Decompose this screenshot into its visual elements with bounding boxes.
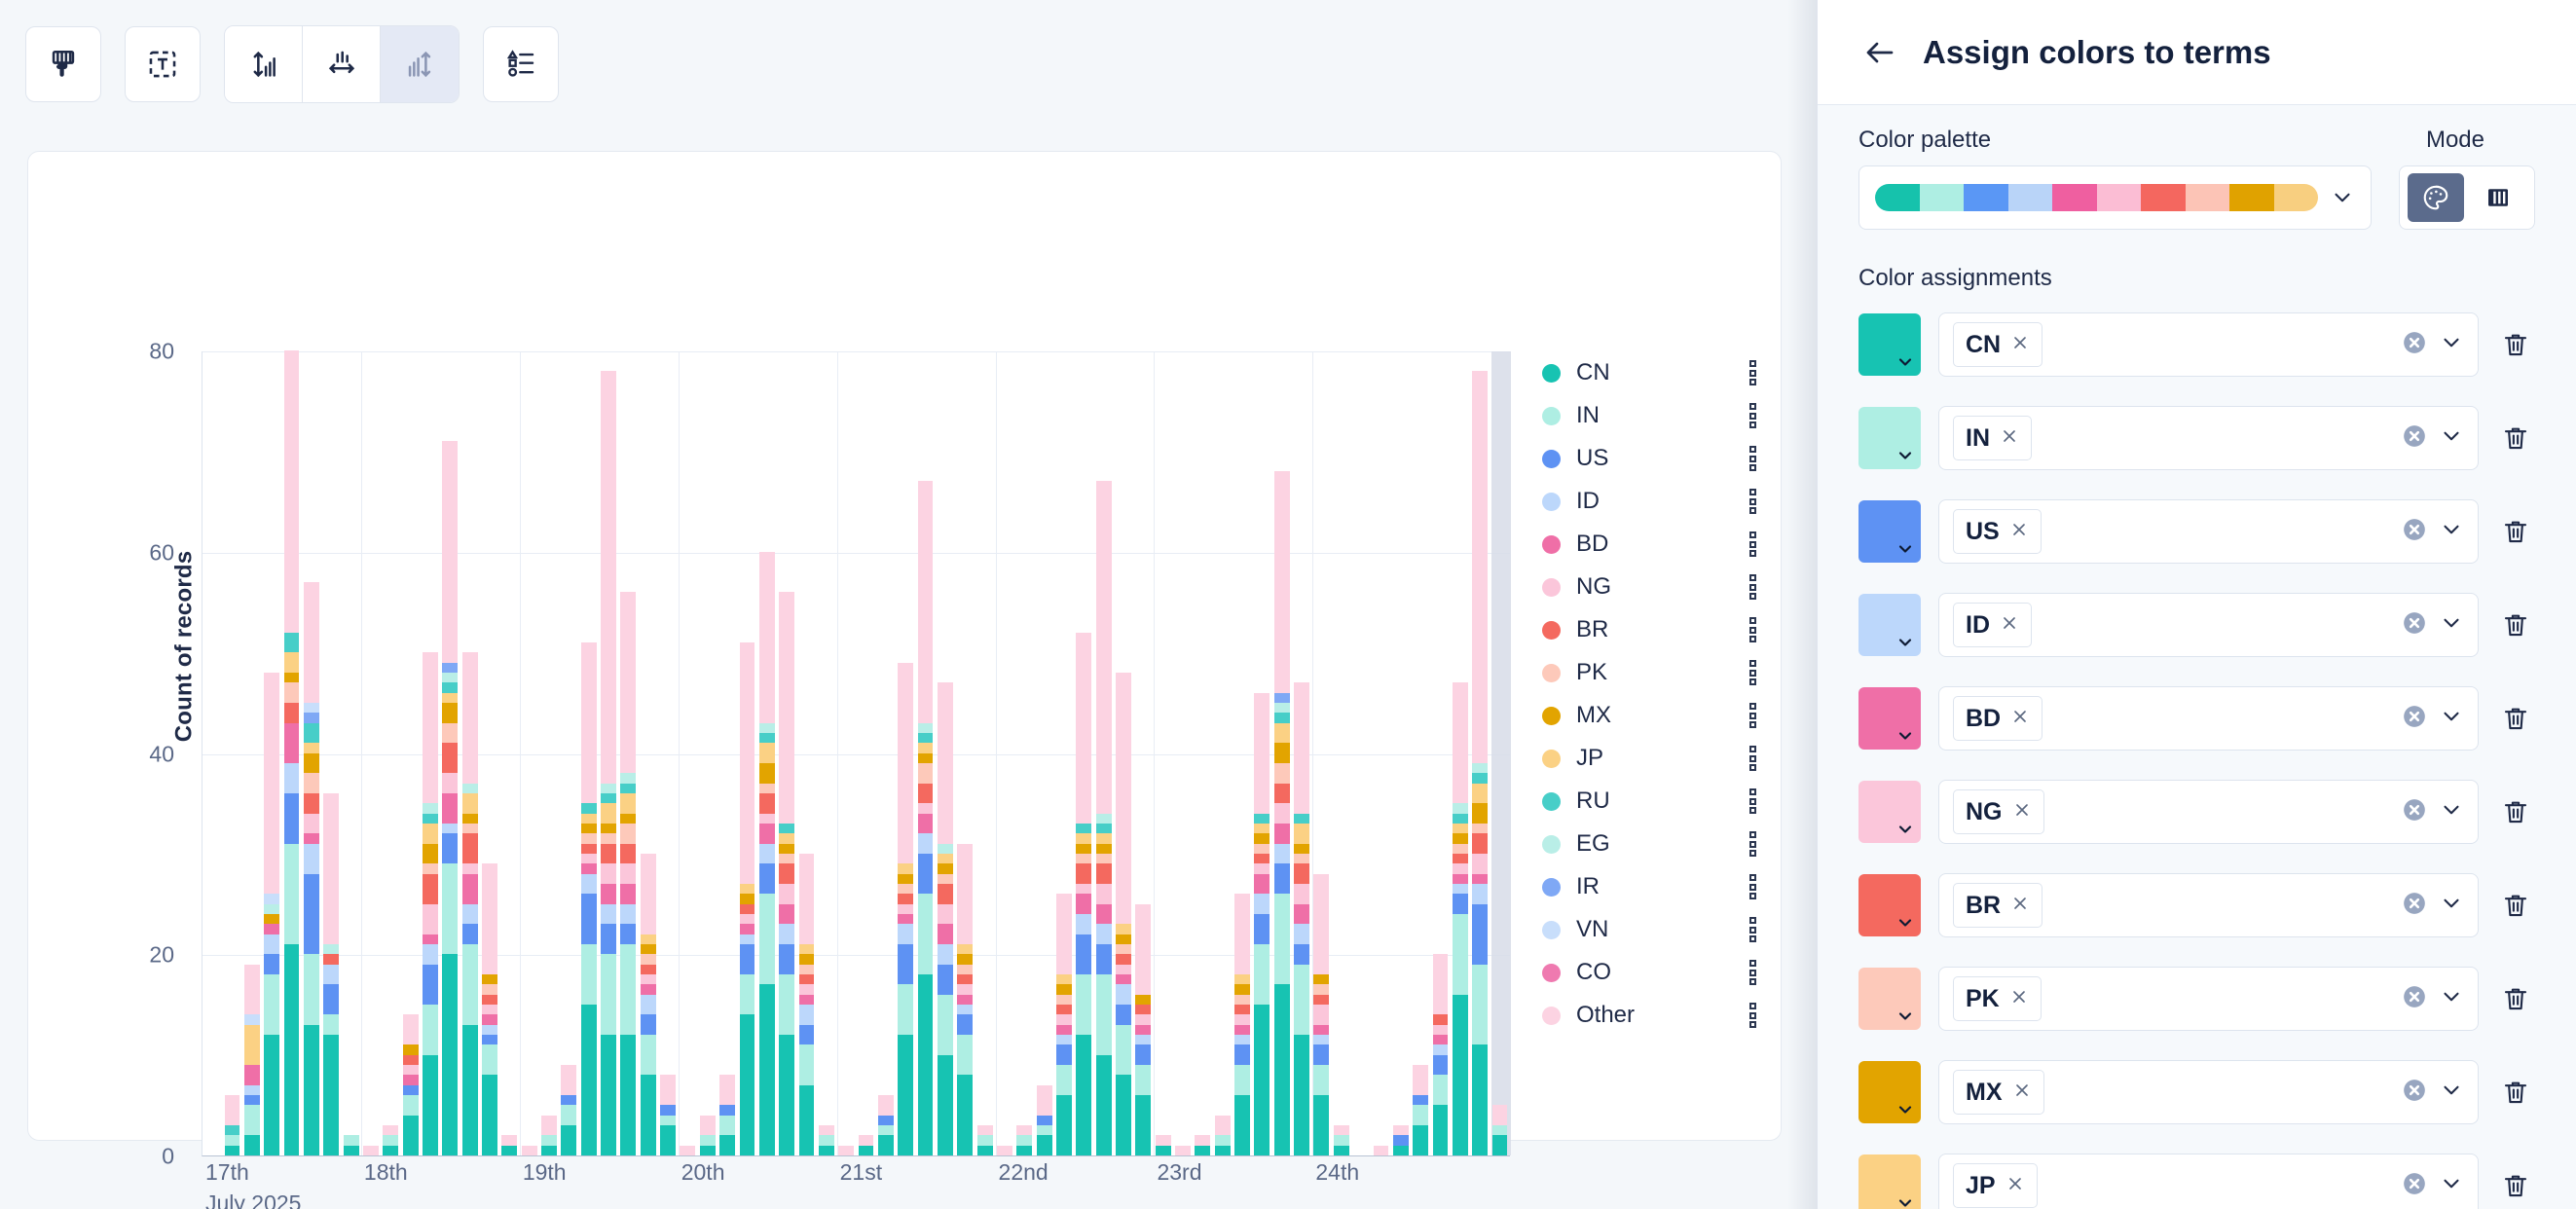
bar-slot[interactable]: [1332, 351, 1351, 1155]
bar-segment[interactable]: [601, 1035, 616, 1155]
bar-segment[interactable]: [601, 954, 616, 1035]
bar-segment[interactable]: [799, 1085, 815, 1155]
bar-segment[interactable]: [938, 965, 953, 995]
bar-segment[interactable]: [1433, 1075, 1449, 1105]
assignment-color-swatch[interactable]: [1858, 687, 1921, 750]
bar-segment[interactable]: [819, 1135, 834, 1145]
bar-segment[interactable]: [1472, 824, 1488, 833]
bar-slot[interactable]: [499, 351, 519, 1155]
legend-item[interactable]: JP: [1542, 737, 1761, 780]
bar-segment[interactable]: [779, 924, 794, 944]
assignment-terms-combobox[interactable]: JP: [1938, 1154, 2479, 1209]
bar-segment[interactable]: [759, 793, 775, 814]
delete-assignment-button[interactable]: [2496, 1078, 2535, 1107]
bar-segment[interactable]: [264, 904, 279, 914]
bar-slot[interactable]: [202, 351, 222, 1155]
bar-segment[interactable]: [1234, 1014, 1250, 1024]
bar-slot[interactable]: [1451, 351, 1470, 1155]
bar-segment[interactable]: [482, 984, 497, 994]
bar-segment[interactable]: [1334, 1146, 1349, 1155]
bar-segment[interactable]: [541, 1135, 557, 1145]
bar-segment[interactable]: [344, 1146, 359, 1155]
bar-segment[interactable]: [323, 793, 339, 944]
bar-segment[interactable]: [1116, 673, 1131, 924]
bar-slot[interactable]: [698, 351, 718, 1155]
bar-slot[interactable]: [1193, 351, 1212, 1155]
bar-segment[interactable]: [859, 1146, 874, 1155]
clear-circle-icon[interactable]: [2402, 1171, 2427, 1201]
bar-segment[interactable]: [641, 995, 656, 1015]
legend-item[interactable]: CN: [1542, 351, 1761, 394]
bar-segment[interactable]: [1156, 1146, 1171, 1155]
bar-segment[interactable]: [759, 763, 775, 784]
bar-segment[interactable]: [1056, 1095, 1072, 1155]
bar-segment[interactable]: [601, 833, 616, 843]
bar-segment[interactable]: [304, 833, 319, 843]
assignment-color-swatch[interactable]: [1858, 313, 1921, 376]
bar-segment[interactable]: [225, 1135, 240, 1145]
bar-segment[interactable]: [660, 1075, 676, 1105]
legend-list-button[interactable]: [483, 26, 559, 102]
bar-segment[interactable]: [1234, 995, 1250, 1005]
bar-segment[interactable]: [423, 874, 438, 904]
bar-segment[interactable]: [1393, 1135, 1409, 1145]
bar-segment[interactable]: [918, 803, 934, 813]
bar-segment[interactable]: [660, 1116, 676, 1125]
bar-segment[interactable]: [304, 723, 319, 744]
clear-circle-icon[interactable]: [2402, 610, 2427, 641]
bar-slot[interactable]: [480, 351, 499, 1155]
bar-segment[interactable]: [1215, 1135, 1231, 1145]
bar-segment[interactable]: [581, 854, 597, 863]
bar-slot[interactable]: [836, 351, 856, 1155]
bar-segment[interactable]: [1135, 1044, 1151, 1065]
bar-segment[interactable]: [779, 833, 794, 843]
remove-term-icon[interactable]: [2006, 1174, 2025, 1198]
legend-drag-handle-icon[interactable]: [1746, 617, 1759, 642]
bar-segment[interactable]: [918, 784, 934, 804]
delete-assignment-button[interactable]: [2496, 891, 2535, 920]
legend-item[interactable]: ID: [1542, 480, 1761, 523]
stacked-bar[interactable]: [1254, 693, 1270, 1155]
bar-segment[interactable]: [1433, 1025, 1449, 1035]
bar-segment[interactable]: [957, 974, 973, 984]
bar-slot[interactable]: [1351, 351, 1371, 1155]
bar-segment[interactable]: [264, 894, 279, 903]
clear-circle-icon[interactable]: [2402, 984, 2427, 1014]
bar-segment[interactable]: [1234, 974, 1250, 984]
bar-segment[interactable]: [1294, 682, 1309, 813]
bar-segment[interactable]: [1116, 984, 1131, 1005]
bar-segment[interactable]: [442, 682, 458, 692]
bar-segment[interactable]: [1472, 784, 1488, 804]
legend-drag-handle-icon[interactable]: [1746, 489, 1759, 514]
bar-segment[interactable]: [284, 763, 300, 793]
legend-item[interactable]: MX: [1542, 694, 1761, 737]
bar-segment[interactable]: [244, 1065, 260, 1085]
stacked-bar[interactable]: [641, 854, 656, 1155]
bar-segment[interactable]: [620, 773, 636, 783]
gradient-mode-button[interactable]: [2470, 173, 2526, 222]
bar-segment[interactable]: [878, 1116, 894, 1125]
bar-slot[interactable]: [381, 351, 400, 1155]
bar-segment[interactable]: [1393, 1146, 1409, 1155]
bar-segment[interactable]: [482, 1005, 497, 1014]
bar-segment[interactable]: [1056, 1025, 1072, 1035]
legend-drag-handle-icon[interactable]: [1746, 703, 1759, 728]
bar-segment[interactable]: [482, 1075, 497, 1155]
bar-segment[interactable]: [779, 884, 794, 904]
legend-drag-handle-icon[interactable]: [1746, 874, 1759, 899]
bar-slot[interactable]: [1154, 351, 1173, 1155]
bar-segment[interactable]: [1294, 854, 1309, 863]
bar-slot[interactable]: [1054, 351, 1074, 1155]
bar-segment[interactable]: [938, 944, 953, 965]
bar-segment[interactable]: [1135, 904, 1151, 995]
bar-segment[interactable]: [1472, 854, 1488, 874]
bar-segment[interactable]: [1472, 763, 1488, 773]
bar-segment[interactable]: [403, 1085, 419, 1095]
bar-slot[interactable]: [876, 351, 896, 1155]
bar-segment[interactable]: [1492, 1105, 1508, 1125]
bar-segment[interactable]: [779, 974, 794, 1035]
bar-segment[interactable]: [898, 874, 913, 884]
bar-segment[interactable]: [957, 944, 973, 954]
bar-segment[interactable]: [759, 552, 775, 723]
bar-segment[interactable]: [641, 984, 656, 994]
bar-segment[interactable]: [1274, 471, 1290, 692]
stacked-bar[interactable]: [225, 1095, 240, 1155]
bar-segment[interactable]: [1472, 803, 1488, 824]
bar-segment[interactable]: [1234, 894, 1250, 974]
bar-segment[interactable]: [225, 1146, 240, 1155]
remove-term-icon[interactable]: [2009, 987, 2029, 1011]
text-box-button[interactable]: [125, 26, 201, 102]
bar-segment[interactable]: [1453, 995, 1468, 1155]
bar-segment[interactable]: [403, 1095, 419, 1116]
bar-segment[interactable]: [1313, 995, 1329, 1005]
clear-circle-icon[interactable]: [2402, 891, 2427, 921]
bar-segment[interactable]: [264, 974, 279, 1035]
bar-slot[interactable]: [1233, 351, 1252, 1155]
bar-segment[interactable]: [1016, 1135, 1032, 1145]
bar-segment[interactable]: [1234, 1035, 1250, 1044]
legend-item[interactable]: PK: [1542, 651, 1761, 694]
bar-segment[interactable]: [878, 1125, 894, 1135]
bar-segment[interactable]: [423, 1055, 438, 1155]
bar-segment[interactable]: [1453, 814, 1468, 824]
bar-segment[interactable]: [1016, 1125, 1032, 1135]
bar-segment[interactable]: [1254, 854, 1270, 863]
bar-segment[interactable]: [641, 965, 656, 974]
assignment-color-swatch[interactable]: [1858, 407, 1921, 469]
bar-segment[interactable]: [1195, 1135, 1210, 1145]
bar-segment[interactable]: [918, 833, 934, 854]
bar-segment[interactable]: [1096, 904, 1112, 925]
bar-slot[interactable]: [1034, 351, 1053, 1155]
bar-segment[interactable]: [620, 793, 636, 814]
delete-assignment-button[interactable]: [2496, 1171, 2535, 1200]
delete-assignment-button[interactable]: [2496, 517, 2535, 546]
stacked-bar[interactable]: [264, 673, 279, 1155]
bar-segment[interactable]: [1294, 1035, 1309, 1155]
bar-segment[interactable]: [601, 803, 616, 824]
bar-segment[interactable]: [1254, 814, 1270, 824]
bar-segment[interactable]: [284, 793, 300, 844]
bar-segment[interactable]: [1254, 1005, 1270, 1155]
bar-segment[interactable]: [1076, 633, 1091, 824]
bar-segment[interactable]: [1313, 1065, 1329, 1095]
stacked-bar[interactable]: [1135, 904, 1151, 1155]
bar-segment[interactable]: [1453, 884, 1468, 894]
bar-slot[interactable]: [1411, 351, 1430, 1155]
bar-segment[interactable]: [581, 814, 597, 824]
bar-segment[interactable]: [581, 824, 597, 833]
legend-item[interactable]: VN: [1542, 908, 1761, 951]
bar-segment[interactable]: [1096, 824, 1112, 833]
stacked-bar[interactable]: [522, 1146, 537, 1155]
bar-slot[interactable]: [975, 351, 994, 1155]
bar-segment[interactable]: [779, 1035, 794, 1155]
legend-item[interactable]: NG: [1542, 566, 1761, 608]
bar-segment[interactable]: [304, 713, 319, 722]
stacked-bar[interactable]: [878, 1095, 894, 1155]
bar-segment[interactable]: [442, 793, 458, 824]
stacked-bar[interactable]: [1413, 1065, 1428, 1155]
bar-slot[interactable]: [400, 351, 420, 1155]
bar-segment[interactable]: [1433, 1044, 1449, 1054]
assignment-color-swatch[interactable]: [1858, 781, 1921, 843]
bar-segment[interactable]: [938, 874, 953, 884]
stacked-bar[interactable]: [581, 642, 597, 1155]
bar-segment[interactable]: [1056, 1044, 1072, 1065]
bar-segment[interactable]: [641, 854, 656, 934]
bar-segment[interactable]: [1334, 1125, 1349, 1135]
bar-segment[interactable]: [323, 954, 339, 964]
stacked-bar[interactable]: [462, 652, 478, 1155]
bar-segment[interactable]: [620, 824, 636, 844]
bar-segment[interactable]: [620, 814, 636, 824]
stacked-bar[interactable]: [1453, 682, 1468, 1155]
bar-segment[interactable]: [1453, 803, 1468, 813]
bar-segment[interactable]: [1274, 763, 1290, 784]
bar-segment[interactable]: [1472, 833, 1488, 854]
legend-drag-handle-icon[interactable]: [1746, 960, 1759, 985]
bar-segment[interactable]: [383, 1135, 398, 1145]
bar-segment[interactable]: [700, 1146, 716, 1155]
bar-segment[interactable]: [1056, 1014, 1072, 1024]
bar-segment[interactable]: [304, 753, 319, 774]
assignment-color-swatch[interactable]: [1858, 874, 1921, 936]
bar-segment[interactable]: [1254, 693, 1270, 814]
bar-slot[interactable]: [222, 351, 241, 1155]
bar-segment[interactable]: [1294, 924, 1309, 944]
stacked-bar[interactable]: [1156, 1135, 1171, 1155]
bar-segment[interactable]: [1472, 371, 1488, 763]
bar-segment[interactable]: [779, 854, 794, 863]
legend-item[interactable]: BR: [1542, 608, 1761, 651]
bar-segment[interactable]: [1135, 1025, 1151, 1035]
bar-segment[interactable]: [938, 924, 953, 944]
legend-item[interactable]: IR: [1542, 865, 1761, 908]
bar-segment[interactable]: [1076, 914, 1091, 934]
stacked-bar[interactable]: [1215, 1116, 1231, 1155]
delete-assignment-button[interactable]: [2496, 330, 2535, 359]
bar-segment[interactable]: [898, 904, 913, 914]
bar-segment[interactable]: [1294, 904, 1309, 925]
clear-circle-icon[interactable]: [2402, 1078, 2427, 1108]
bar-segment[interactable]: [323, 965, 339, 985]
bar-slot[interactable]: [1292, 351, 1311, 1155]
bar-segment[interactable]: [284, 652, 300, 673]
bar-segment[interactable]: [878, 1135, 894, 1155]
remove-term-icon[interactable]: [2000, 426, 2019, 451]
bar-segment[interactable]: [938, 904, 953, 925]
legend-drag-handle-icon[interactable]: [1746, 788, 1759, 814]
bar-slot[interactable]: [1213, 351, 1233, 1155]
bar-segment[interactable]: [898, 924, 913, 944]
bar-segment[interactable]: [264, 954, 279, 974]
clear-circle-icon[interactable]: [2402, 797, 2427, 827]
bar-segment[interactable]: [641, 1035, 656, 1075]
stacked-bar[interactable]: [304, 582, 319, 1155]
bar-segment[interactable]: [1274, 863, 1290, 894]
bar-segment[interactable]: [938, 854, 953, 863]
bar-segment[interactable]: [1056, 984, 1072, 994]
stacked-bar[interactable]: [1472, 371, 1488, 1155]
stacked-bar[interactable]: [1492, 1105, 1508, 1155]
bar-segment[interactable]: [1254, 944, 1270, 1005]
bar-slot[interactable]: [1490, 351, 1509, 1155]
bar-segment[interactable]: [1433, 1035, 1449, 1044]
stacked-bar[interactable]: [1313, 874, 1329, 1155]
bar-segment[interactable]: [1274, 784, 1290, 804]
chevron-down-icon[interactable]: [2439, 704, 2464, 734]
bar-slot[interactable]: [718, 351, 737, 1155]
bar-segment[interactable]: [1135, 995, 1151, 1005]
bar-segment[interactable]: [740, 904, 755, 914]
bar-segment[interactable]: [462, 874, 478, 904]
bar-segment[interactable]: [284, 673, 300, 682]
bar-slot[interactable]: [995, 351, 1014, 1155]
bar-segment[interactable]: [1175, 1146, 1191, 1155]
bar-segment[interactable]: [957, 995, 973, 1005]
bar-segment[interactable]: [1037, 1116, 1052, 1125]
bar-segment[interactable]: [244, 1135, 260, 1155]
bar-slot[interactable]: [421, 351, 440, 1155]
bar-slot[interactable]: [618, 351, 638, 1155]
stacked-bar[interactable]: [1334, 1125, 1349, 1155]
bar-segment[interactable]: [442, 824, 458, 833]
bar-segment[interactable]: [1254, 844, 1270, 854]
bar-segment[interactable]: [641, 1014, 656, 1035]
stacked-bar[interactable]: [620, 592, 636, 1155]
chevron-down-icon[interactable]: [2439, 1078, 2464, 1108]
bar-segment[interactable]: [620, 863, 636, 884]
bar-segment[interactable]: [957, 844, 973, 944]
bar-segment[interactable]: [620, 592, 636, 773]
bar-segment[interactable]: [442, 773, 458, 793]
chevron-down-icon[interactable]: [2439, 330, 2464, 360]
stacked-bar[interactable]: [997, 1146, 1012, 1155]
bar-segment[interactable]: [1453, 914, 1468, 995]
bar-segment[interactable]: [403, 1055, 419, 1065]
bar-segment[interactable]: [403, 1116, 419, 1155]
bar-segment[interactable]: [304, 582, 319, 703]
bar-segment[interactable]: [462, 652, 478, 783]
bar-segment[interactable]: [759, 824, 775, 844]
bar-segment[interactable]: [1413, 1065, 1428, 1095]
bar-segment[interactable]: [1116, 944, 1131, 954]
delete-assignment-button[interactable]: [2496, 797, 2535, 826]
bar-segment[interactable]: [423, 824, 438, 844]
bar-segment[interactable]: [244, 1095, 260, 1105]
bar-segment[interactable]: [403, 1065, 419, 1075]
bar-segment[interactable]: [1274, 703, 1290, 713]
delete-assignment-button[interactable]: [2496, 423, 2535, 453]
bar-segment[interactable]: [938, 884, 953, 904]
bar-segment[interactable]: [541, 1116, 557, 1136]
bar-segment[interactable]: [719, 1135, 735, 1155]
bar-segment[interactable]: [423, 803, 438, 813]
bar-segment[interactable]: [898, 863, 913, 873]
stacked-bar[interactable]: [1175, 1146, 1191, 1155]
bar-segment[interactable]: [838, 1146, 854, 1155]
stacked-bar[interactable]: [1274, 471, 1290, 1155]
bar-segment[interactable]: [740, 924, 755, 934]
bar-segment[interactable]: [1096, 1055, 1112, 1155]
bar-segment[interactable]: [680, 1146, 695, 1155]
bar-segment[interactable]: [264, 934, 279, 955]
bar-segment[interactable]: [423, 934, 438, 944]
bar-segment[interactable]: [1135, 1065, 1151, 1095]
bar-segment[interactable]: [878, 1095, 894, 1116]
bar-segment[interactable]: [918, 763, 934, 784]
bar-segment[interactable]: [1313, 874, 1329, 974]
remove-term-icon[interactable]: [2010, 707, 2030, 731]
bar-segment[interactable]: [225, 1125, 240, 1135]
bar-segment[interactable]: [660, 1105, 676, 1115]
bar-segment[interactable]: [700, 1135, 716, 1145]
bar-segment[interactable]: [1037, 1135, 1052, 1155]
bar-segment[interactable]: [1492, 1135, 1508, 1155]
bar-segment[interactable]: [938, 995, 953, 1055]
bar-segment[interactable]: [462, 814, 478, 824]
bar-slot[interactable]: [658, 351, 678, 1155]
bar-segment[interactable]: [898, 663, 913, 864]
stacked-bar[interactable]: [482, 863, 497, 1155]
bar-segment[interactable]: [997, 1146, 1012, 1155]
bar-segment[interactable]: [779, 863, 794, 884]
stacked-bar[interactable]: [1433, 954, 1449, 1155]
bar-segment[interactable]: [799, 995, 815, 1005]
bar-segment[interactable]: [442, 833, 458, 863]
bar-segment[interactable]: [938, 844, 953, 854]
legend-drag-handle-icon[interactable]: [1746, 746, 1759, 771]
bar-segment[interactable]: [1076, 1035, 1091, 1155]
bar-segment[interactable]: [423, 1005, 438, 1055]
assignment-terms-combobox[interactable]: MX: [1938, 1060, 2479, 1124]
bar-slot[interactable]: [1252, 351, 1271, 1155]
bar-segment[interactable]: [1056, 1035, 1072, 1044]
legend-drag-handle-icon[interactable]: [1746, 917, 1759, 942]
bar-segment[interactable]: [423, 904, 438, 934]
stacked-bar[interactable]: [819, 1125, 834, 1155]
bar-segment[interactable]: [1096, 924, 1112, 944]
bar-segment[interactable]: [1156, 1135, 1171, 1145]
bar-segment[interactable]: [225, 1095, 240, 1125]
bar-segment[interactable]: [442, 954, 458, 1155]
